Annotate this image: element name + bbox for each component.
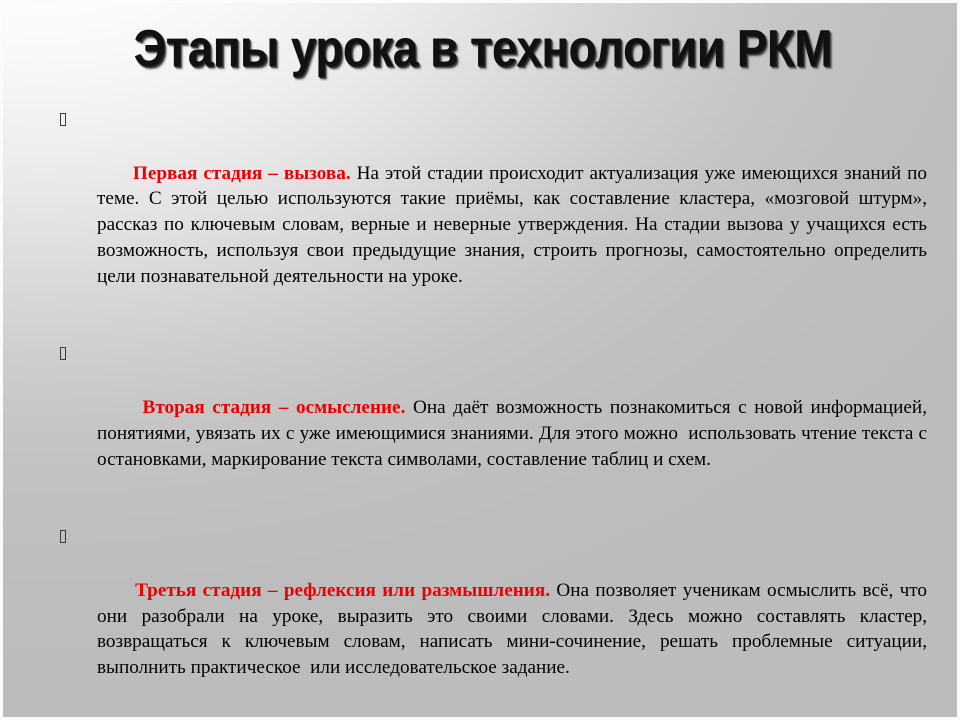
list-item: Первая стадия – вызова. На этой стадии п… xyxy=(55,109,927,315)
paragraph-lead-1: Первая стадия – вызова. xyxy=(133,163,351,184)
list-item: Третья стадия – рефлексия или размышлени… xyxy=(55,526,927,707)
title-container: Этапы урока в технологии РКМ xyxy=(3,21,960,77)
list-item: Вторая стадия – осмысление. Она даёт воз… xyxy=(55,343,927,498)
paragraph-lead-3: Третья стадия – рефлексия или размышлени… xyxy=(135,580,550,601)
page-title: Этапы урока в технологии РКМ xyxy=(134,21,832,77)
slide: Этапы урока в технологии РКМ Первая стад… xyxy=(0,0,960,720)
bullet-square-icon xyxy=(60,530,66,543)
paragraph-lead-2: Вторая стадия – осмысление. xyxy=(143,397,406,418)
content-list: Первая стадия – вызова. На этой стадии п… xyxy=(55,109,927,720)
bullet-square-icon xyxy=(60,113,66,126)
bullet-square-icon xyxy=(60,347,66,360)
